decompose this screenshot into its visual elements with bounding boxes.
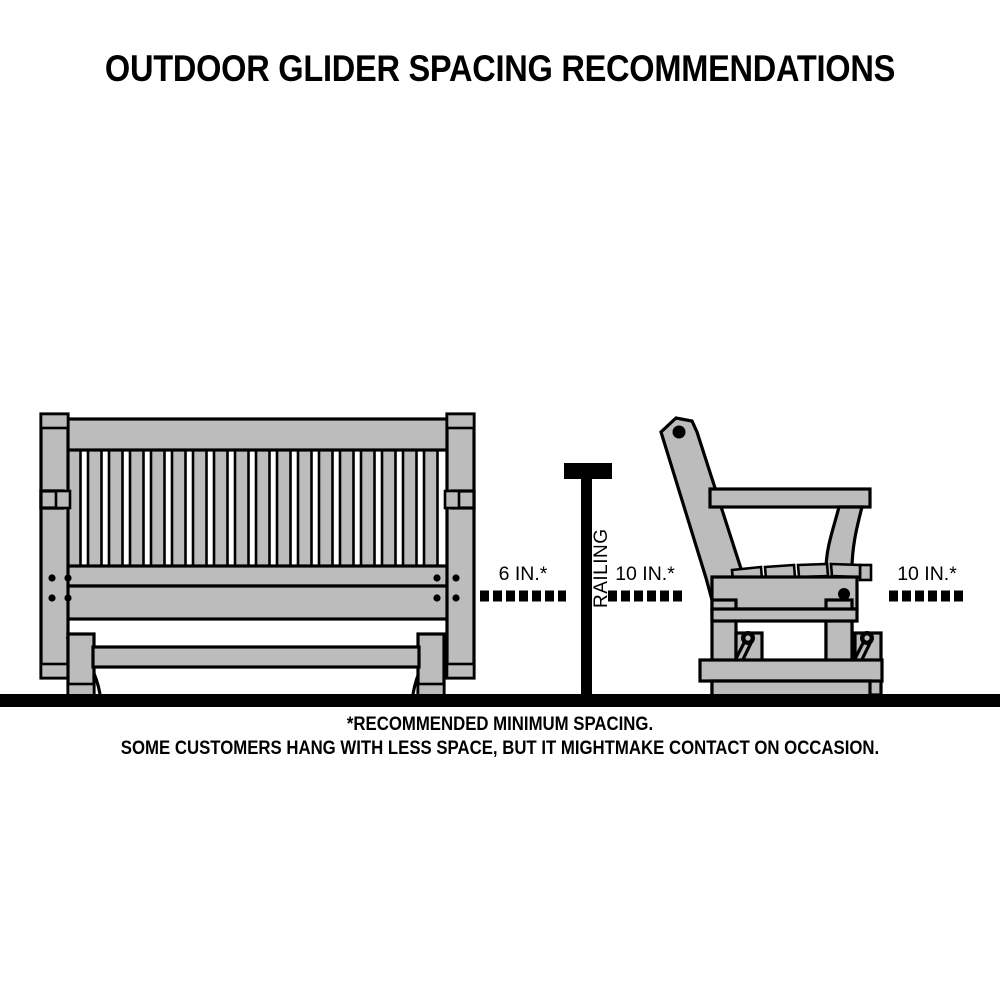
- bench-base-cross-rail: [93, 647, 419, 667]
- glider-side-view: [661, 418, 882, 702]
- measurement-label-1: 6 IN.*: [499, 563, 548, 585]
- measurement-label-2: 10 IN.*: [615, 563, 675, 585]
- measurement-label-3: 10 IN.*: [897, 563, 957, 585]
- bench-back-slats: [67, 447, 438, 571]
- diagram-canvas: .wood { fill: #bcbcbc; stroke: #000000; …: [0, 0, 1000, 1000]
- bench-post-right: [447, 414, 474, 678]
- footnote-block: *RECOMMENDED MINIMUM SPACING. SOME CUSTO…: [0, 712, 1000, 760]
- bench-seat-rail-lower: [56, 586, 448, 619]
- bench-base-stand: [68, 634, 444, 702]
- footnote-line-2: SOME CUSTOMERS HANG WITH LESS SPACE, BUT…: [70, 736, 930, 760]
- bench-seat-rail-upper: [56, 566, 448, 586]
- glider-seat-bolt-right: [838, 588, 850, 600]
- bench-post-left: [41, 414, 68, 678]
- glider-bottom-rail: [700, 660, 882, 681]
- ground-line: [0, 694, 1000, 707]
- glider-spacing-diagram: OUTDOOR GLIDER SPACING RECOMMENDATIONS .…: [0, 0, 1000, 1000]
- bench-bracket-tab-right: [445, 491, 459, 508]
- bench-front-view: [41, 414, 474, 702]
- glider-lower-cross-rail: [712, 609, 857, 621]
- glider-leg-tab: [860, 565, 871, 580]
- bench-bracket-tab-left: [56, 491, 70, 508]
- glider-armrest: [710, 489, 870, 507]
- footnote-line-1: *RECOMMENDED MINIMUM SPACING.: [70, 712, 930, 736]
- glider-backrest-pivot-top: [673, 426, 686, 439]
- bench-top-rail: [56, 419, 448, 450]
